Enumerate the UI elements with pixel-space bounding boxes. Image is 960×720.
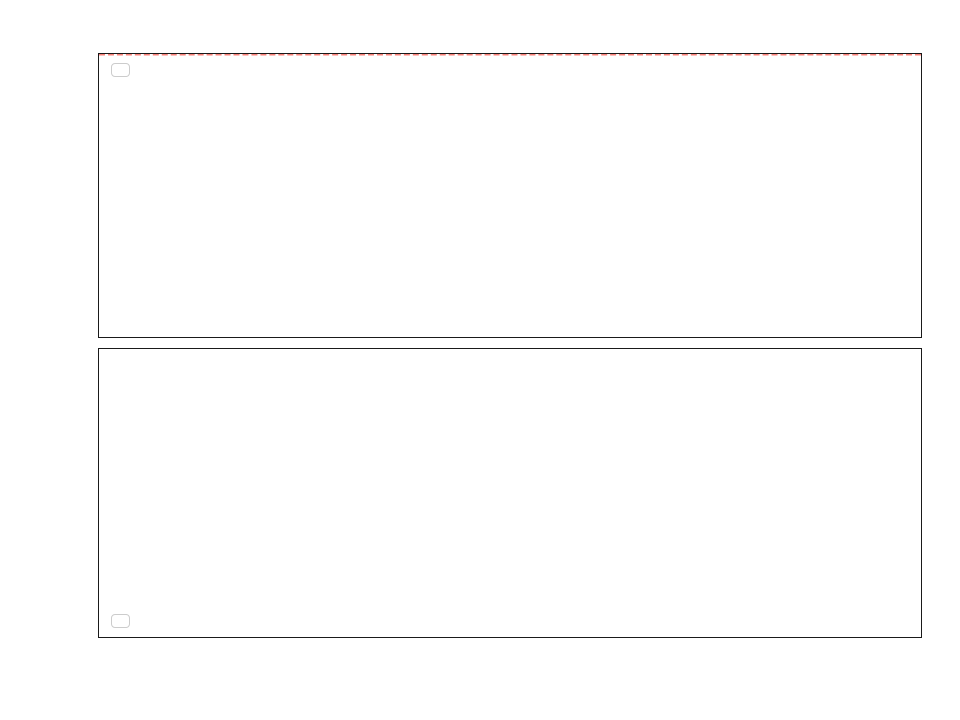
threshold-line bbox=[99, 54, 921, 56]
figure-canvas bbox=[0, 0, 960, 720]
bottom-panel-axes bbox=[98, 348, 922, 638]
top-panel-legend bbox=[111, 63, 130, 77]
bottom-panel-plot-area bbox=[99, 349, 921, 637]
top-panel-axes bbox=[98, 53, 922, 338]
bottom-panel-legend bbox=[111, 614, 130, 628]
top-panel-plot-area bbox=[99, 54, 921, 337]
